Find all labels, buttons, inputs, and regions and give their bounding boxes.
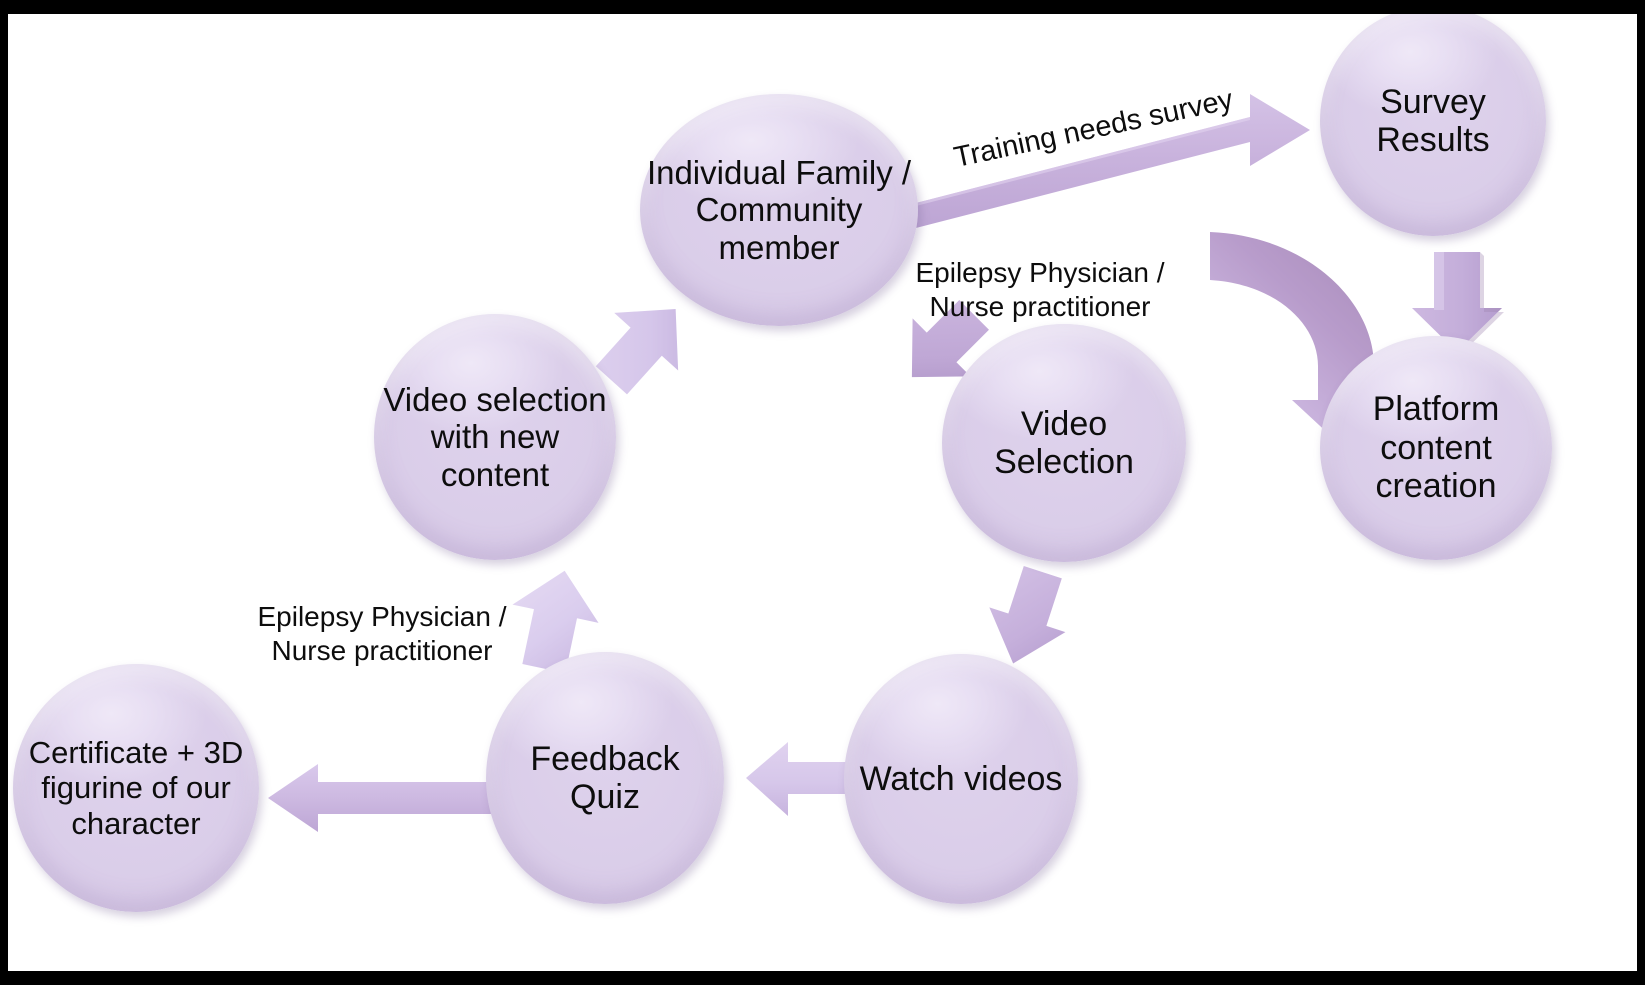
node-certificate[interactable]: Certificate + 3D figurine of our charact… bbox=[13, 664, 259, 912]
diagram-canvas: Individual Family / Community member Sur… bbox=[8, 14, 1637, 971]
node-survey-results-label: Survey Results bbox=[1320, 83, 1546, 160]
node-video-selection[interactable]: Video Selection bbox=[942, 324, 1186, 562]
node-individual[interactable]: Individual Family / Community member bbox=[640, 94, 918, 326]
node-feedback-quiz[interactable]: Feedback Quiz bbox=[486, 652, 724, 904]
edge-label-epilepsy-bottom: Epilepsy Physician / Nurse practitioner bbox=[256, 566, 508, 668]
node-survey-results[interactable]: Survey Results bbox=[1320, 14, 1546, 236]
arrow-watch-to-feedback bbox=[742, 732, 854, 822]
edge-label-epilepsy-top: Epilepsy Physician / Nurse practitioner bbox=[914, 222, 1166, 324]
node-platform-content[interactable]: Platform content creation bbox=[1320, 336, 1552, 560]
node-video-new-content[interactable]: Video selection with new content bbox=[374, 314, 616, 560]
node-individual-label: Individual Family / Community member bbox=[640, 154, 918, 266]
node-video-new-content-label: Video selection with new content bbox=[374, 381, 616, 493]
node-watch-videos[interactable]: Watch videos bbox=[844, 654, 1078, 904]
node-platform-content-label: Platform content creation bbox=[1320, 390, 1552, 505]
node-feedback-quiz-label: Feedback Quiz bbox=[486, 740, 724, 817]
node-certificate-label: Certificate + 3D figurine of our charact… bbox=[13, 735, 259, 840]
node-video-selection-label: Video Selection bbox=[942, 405, 1186, 482]
image-frame: Individual Family / Community member Sur… bbox=[0, 0, 1645, 985]
arrow-feedback-to-certificate bbox=[266, 762, 496, 838]
node-watch-videos-label: Watch videos bbox=[854, 760, 1069, 798]
